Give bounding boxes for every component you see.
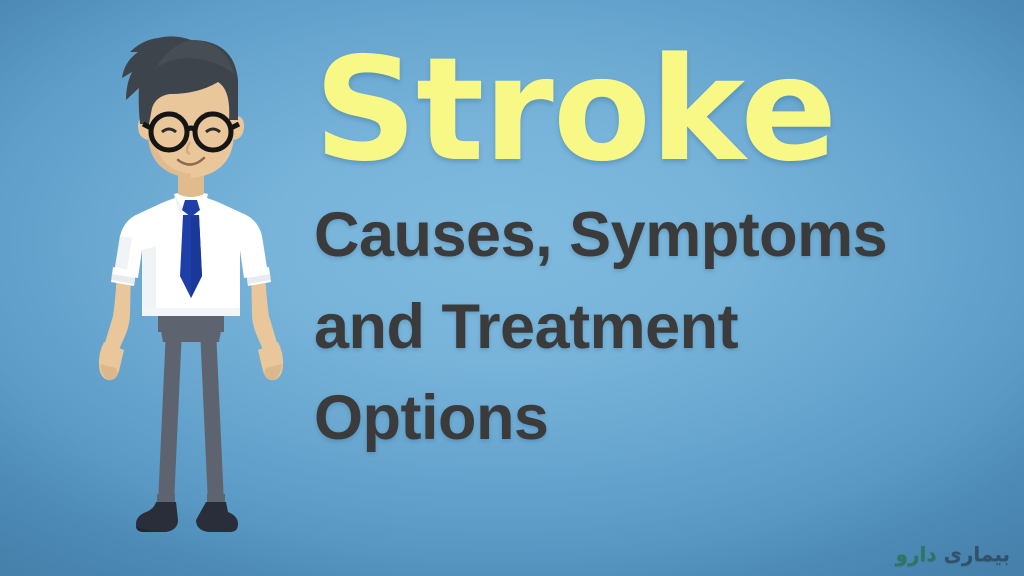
subtitle-line-2: and Treatment — [314, 282, 1014, 374]
legs-group — [157, 329, 225, 510]
watermark-text-dark: بیماری — [944, 542, 1010, 566]
slide-canvas: Stroke Causes, Symptoms and Treatment Op… — [0, 0, 1024, 576]
page-subtitle: Causes, Symptoms and Treatment Options — [314, 190, 1014, 466]
shoes-group — [136, 502, 238, 532]
page-title: Stroke — [314, 44, 1014, 176]
watermark: بیماری دارو — [896, 542, 1010, 566]
subtitle-line-1: Causes, Symptoms — [314, 190, 1014, 282]
subtitle-line-3: Options — [314, 373, 1014, 465]
watermark-text-green: دارو — [896, 542, 937, 566]
cartoon-man-illustration — [86, 24, 296, 544]
title-text-block: Stroke Causes, Symptoms and Treatment Op… — [314, 44, 1014, 465]
